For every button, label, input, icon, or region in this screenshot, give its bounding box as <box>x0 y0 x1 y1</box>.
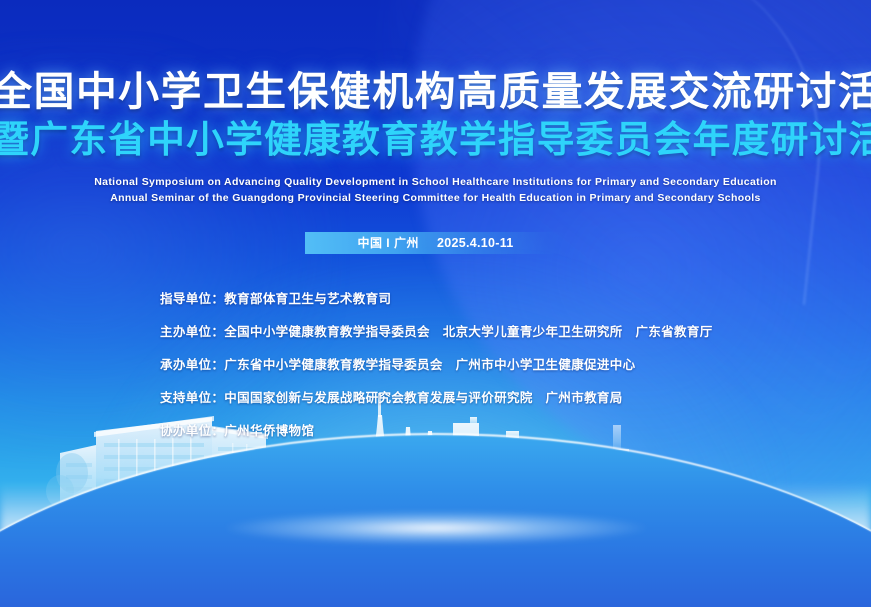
organizer-value: 教育部体育卫生与艺术教育司 <box>224 288 391 307</box>
poster-title: 全国中小学卫生保健机构高质量发展交流研讨活动 暨广东省中小学健康教育教学指导委员… <box>0 72 871 158</box>
subtitle-line-2: Annual Seminar of the Guangdong Provinci… <box>94 190 777 206</box>
organizer-label: 协办单位： <box>160 420 224 439</box>
organizer-value: 广东省中小学健康教育教学指导委员会 广州市中小学卫生健康促进中心 <box>224 354 635 373</box>
organizer-value: 全国中小学健康教育教学指导委员会 北京大学儿童青少年卫生研究所 广东省教育厅 <box>224 321 712 340</box>
poster-subtitle: National Symposium on Advancing Quality … <box>94 174 777 207</box>
organizer-value: 广州华侨博物馆 <box>224 420 314 439</box>
event-location-date-badge: 中国 I 广州 2025.4.10-11 <box>305 232 567 254</box>
organizer-value: 中国国家创新与发展战略研究会教育发展与评价研究院 广州市教育局 <box>224 387 622 406</box>
conference-poster: 全国中小学卫生保健机构高质量发展交流研讨活动 暨广东省中小学健康教育教学指导委员… <box>0 0 871 607</box>
organizer-row: 协办单位： 广州华侨博物馆 <box>160 420 314 439</box>
organizer-row: 承办单位： 广东省中小学健康教育教学指导委员会 广州市中小学卫生健康促进中心 <box>160 354 635 373</box>
event-date: 2025.4.10-11 <box>437 236 514 250</box>
event-location: 中国 I 广州 <box>357 234 419 251</box>
organizer-label: 支持单位： <box>160 387 224 406</box>
organizer-row: 主办单位： 全国中小学健康教育教学指导委员会 北京大学儿童青少年卫生研究所 广东… <box>160 321 713 340</box>
organizer-row: 指导单位： 教育部体育卫生与艺术教育司 <box>160 288 391 307</box>
organizer-label: 指导单位： <box>160 288 224 307</box>
subtitle-line-1: National Symposium on Advancing Quality … <box>94 174 777 190</box>
organizer-label: 主办单位： <box>160 321 224 340</box>
organizer-label: 承办单位： <box>160 354 224 373</box>
title-line-primary: 全国中小学卫生保健机构高质量发展交流研讨活动 <box>0 72 871 112</box>
organizer-list: 指导单位： 教育部体育卫生与艺术教育司 主办单位： 全国中小学健康教育教学指导委… <box>0 288 871 453</box>
title-line-secondary: 暨广东省中小学健康教育教学指导委员会年度研讨活动 <box>0 121 871 158</box>
poster-content: 全国中小学卫生保健机构高质量发展交流研讨活动 暨广东省中小学健康教育教学指导委员… <box>0 0 871 607</box>
organizer-row: 支持单位： 中国国家创新与发展战略研究会教育发展与评价研究院 广州市教育局 <box>160 387 623 406</box>
